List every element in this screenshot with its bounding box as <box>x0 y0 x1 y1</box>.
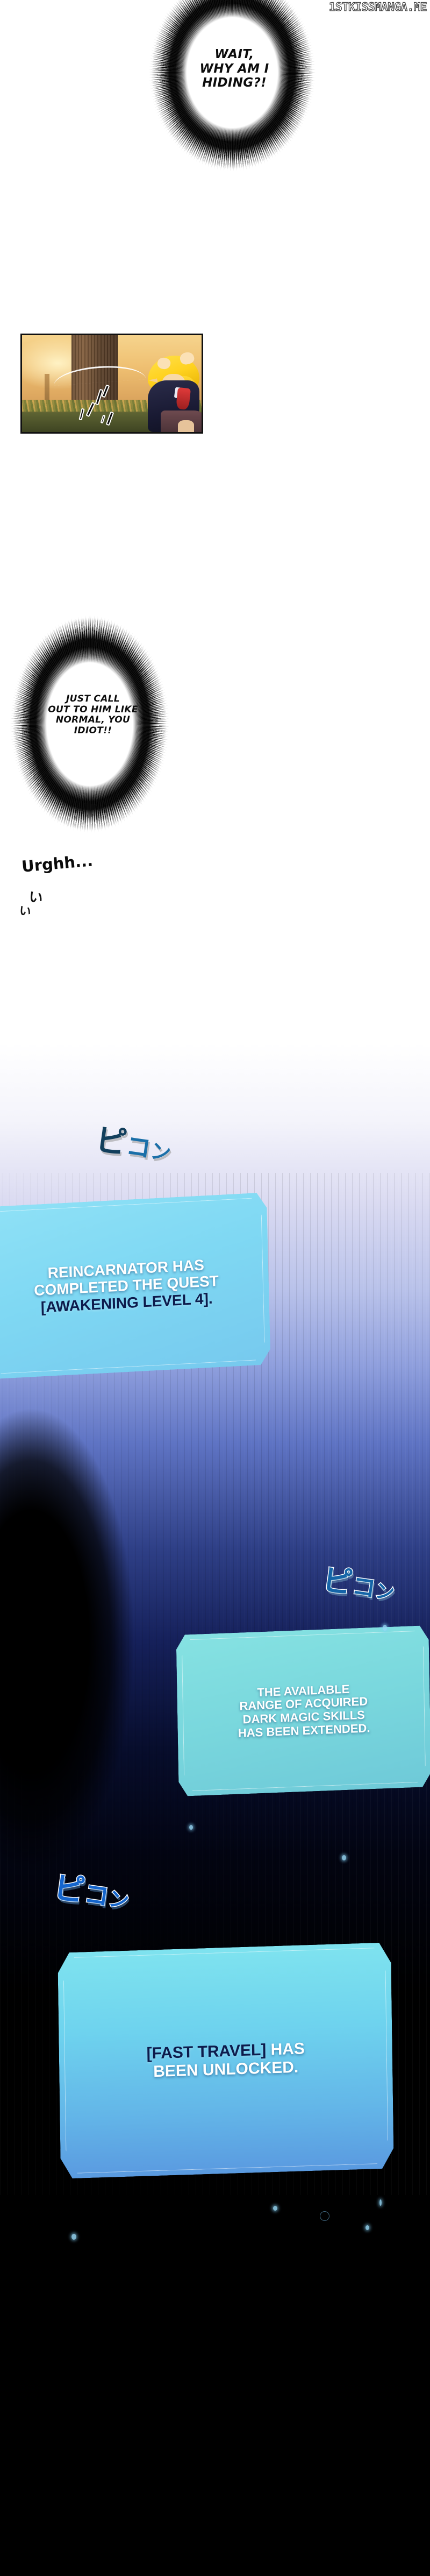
small-squiggle-mark-icon: い <box>18 901 32 920</box>
system-message-box-2: THE AVAILABLE RANGE OF ACQUIRED DARK MAG… <box>176 1625 430 1796</box>
site-watermark: 1STKISSMANGA.ME <box>329 1 427 13</box>
glow-ring-icon <box>320 2211 329 2221</box>
system-message-box-3: [FAST TRAVEL] HAS BEEN UNLOCKED. <box>58 1942 394 2178</box>
glow-particle-icon <box>379 2199 382 2206</box>
system-message-text-2: THE AVAILABLE RANGE OF ACQUIRED DARK MAG… <box>177 1680 430 1743</box>
sfx-katakana-n: ン <box>374 1575 397 1606</box>
system-message-box-1: REINCARNATOR HAS COMPLETED THE QUEST [AW… <box>0 1192 271 1379</box>
glow-particle-icon <box>342 1855 346 1860</box>
speech-bubble-text-2: JUST CALL OUT TO HIM LIKE NORMAL, YOU ID… <box>24 694 162 737</box>
glow-particle-icon <box>383 1625 387 1631</box>
glow-particle-icon <box>189 1825 193 1830</box>
glow-particle-icon <box>365 2225 369 2230</box>
glow-particle-icon <box>71 2234 76 2240</box>
manga-panel-elf-girl <box>20 334 203 434</box>
sfx-katakana-n: ン <box>107 1882 131 1914</box>
system-message-line-white: THE AVAILABLE RANGE OF ACQUIRED DARK MAG… <box>238 1682 370 1739</box>
elf-girl-figure <box>122 351 203 432</box>
leg <box>178 420 194 432</box>
glow-particle-icon <box>273 2206 277 2211</box>
speech-bubble-text-1: WAIT, WHY AM I HIDING?! <box>161 47 307 90</box>
sfx-katakana-n: ン <box>149 1134 173 1166</box>
black-background-bottom <box>0 2195 430 2576</box>
